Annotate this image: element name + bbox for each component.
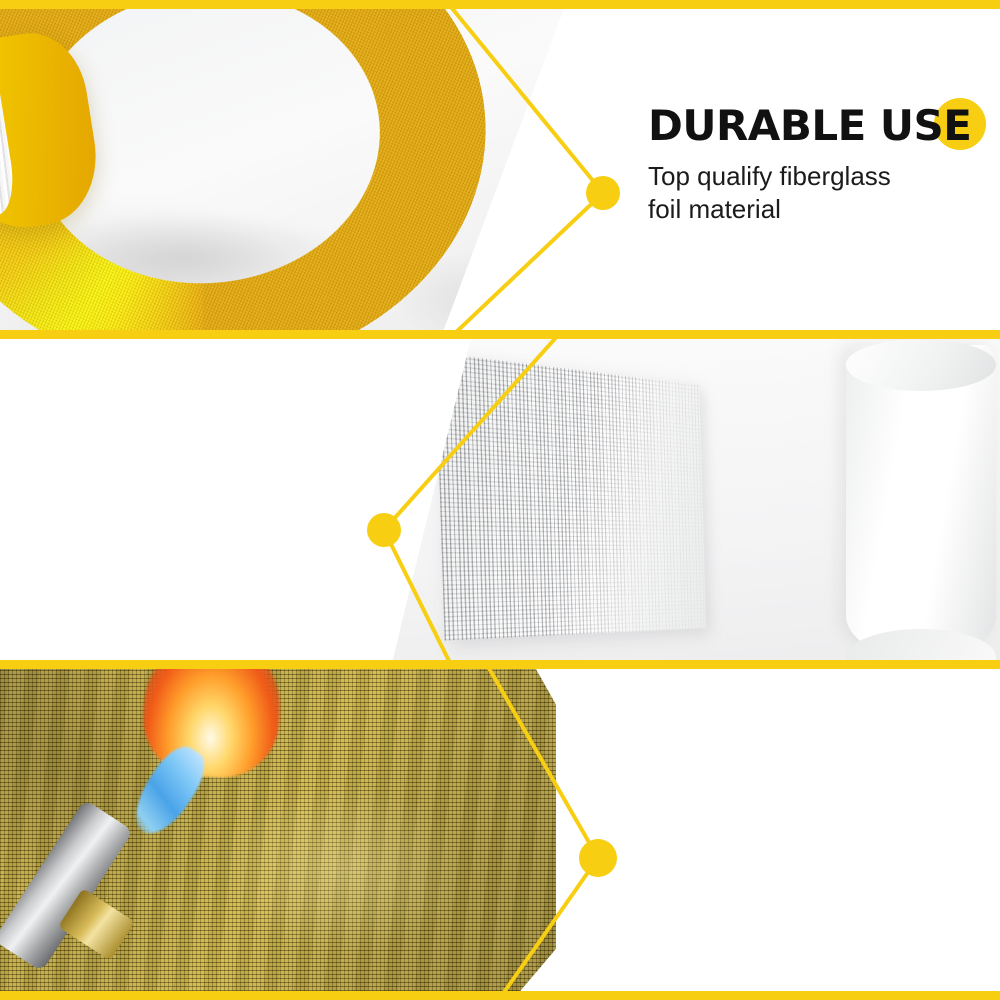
infographic-page: DURABLE USE Top qualify fiberglass foil … bbox=[0, 0, 1000, 1000]
feature-body: Top qualify fiberglass foil material bbox=[648, 160, 988, 228]
feature-text-durable-use: DURABLE USE Top qualify fiberglass foil … bbox=[648, 104, 988, 227]
feature-band-durable-use: DURABLE USE Top qualify fiberglass foil … bbox=[0, 0, 1000, 331]
feature-body-line-1: Top qualify fiberglass bbox=[648, 160, 988, 194]
photo-blowtorch-on-tape bbox=[0, 669, 556, 992]
photo-silver-foil-mesh bbox=[392, 339, 1000, 661]
foil-mesh-sheet bbox=[435, 353, 706, 641]
feature-body-line-2: foil material bbox=[648, 193, 988, 227]
feature-headline: DURABLE USE bbox=[648, 104, 988, 148]
divider-rule-bottom bbox=[0, 991, 1000, 1000]
divider-rule-top bbox=[0, 0, 1000, 9]
divider-rule-2 bbox=[0, 660, 1000, 669]
foil-mesh-grid-texture bbox=[435, 353, 706, 641]
divider-rule-1 bbox=[0, 330, 1000, 339]
white-tape-roll-top bbox=[846, 339, 996, 391]
white-tape-roll bbox=[846, 345, 996, 655]
feature-band-high-temperature-insulation: High Temperature Insulation Temperature … bbox=[0, 669, 1000, 992]
feature-band-easy-to-apply: EASY TO APPLY Strong self adhesive bbox=[0, 339, 1000, 661]
